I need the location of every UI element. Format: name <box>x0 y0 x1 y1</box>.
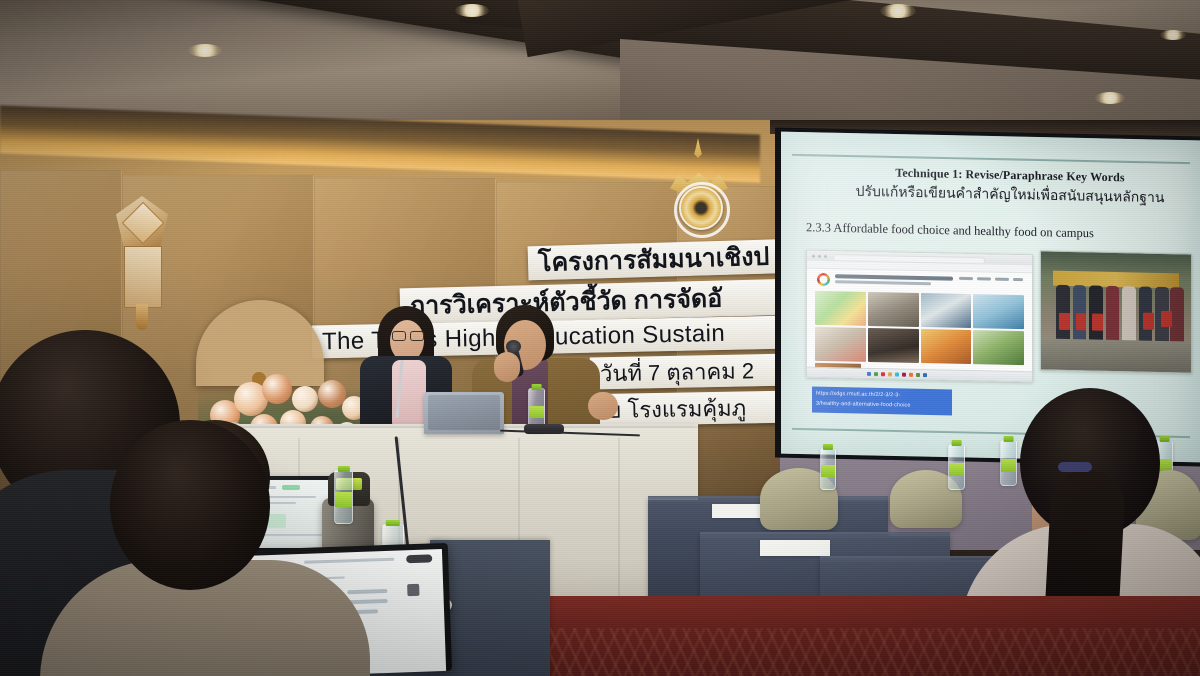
bottle-label <box>335 492 352 508</box>
lantern-tail <box>136 304 148 330</box>
flower-bloom <box>292 386 318 412</box>
bottle-cap <box>386 520 400 526</box>
hair-tie <box>1058 462 1092 472</box>
lantern-body <box>124 246 162 308</box>
crest-crown-icon <box>690 138 706 178</box>
eyeglasses-icon <box>392 331 422 339</box>
bottle-cap <box>531 384 542 390</box>
presenter-laptop[interactable] <box>424 392 504 434</box>
ceiling-downlight-icon <box>188 44 222 57</box>
ceiling-downlight-icon <box>1095 92 1125 104</box>
water-bottle <box>820 448 836 490</box>
flower-bloom <box>262 374 292 404</box>
photo-canvas: โครงการสัมมนาเชิงป การวิเคราะห์ตัวชี้วัด… <box>0 0 1200 676</box>
ceiling-downlight-icon <box>455 4 489 17</box>
bottle-cap <box>823 444 833 450</box>
bottle-cap <box>1159 436 1170 442</box>
ceiling-downlight-icon <box>880 4 916 18</box>
water-bottle <box>948 444 965 490</box>
bottle-label <box>529 406 544 419</box>
foreground-attendee-head <box>110 420 270 590</box>
ceiling-downlight-icon <box>1160 30 1186 40</box>
audience-table-edge <box>700 532 950 539</box>
bottle-label <box>821 465 835 477</box>
microphone-head-icon <box>506 340 521 353</box>
bottle-cap <box>337 466 349 472</box>
water-bottle <box>1000 440 1017 486</box>
male-speaker-hand <box>588 392 618 420</box>
bottle-cap <box>951 440 962 446</box>
bottle-label <box>1001 459 1016 472</box>
bottle-cap <box>1003 436 1014 442</box>
male-speaker-hand <box>494 352 520 382</box>
bottle-label <box>949 463 964 476</box>
crest-disc <box>679 186 723 230</box>
university-crest <box>668 138 730 246</box>
handout-paper <box>760 540 830 556</box>
water-bottle <box>334 470 353 524</box>
lanna-lantern-decor <box>112 196 172 336</box>
